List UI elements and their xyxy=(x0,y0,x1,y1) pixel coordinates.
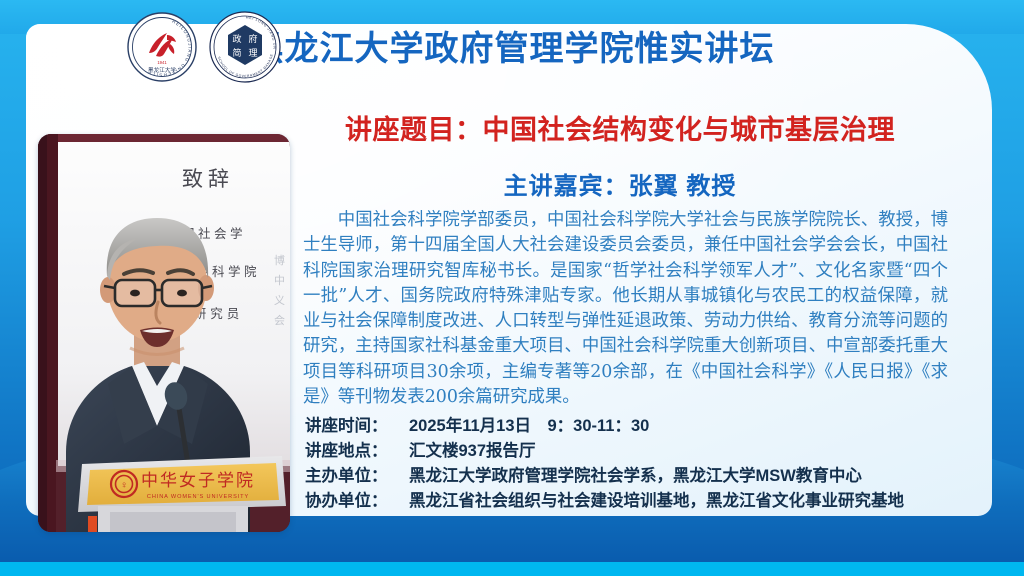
svg-text:简: 简 xyxy=(232,47,241,58)
svg-text:中华女子学院: 中华女子学院 xyxy=(141,471,255,491)
info-value: 汇文楼937报告厅 xyxy=(409,439,945,464)
page-title: 黑龙江大学政府管理学院惟实讲坛 xyxy=(250,21,775,70)
svg-text:府: 府 xyxy=(248,33,257,44)
heilongjiang-university-seal-icon: HEILONGJIANG UNIVERSITY 1941 黑龙江大学 xyxy=(126,11,198,83)
logo-group: HEILONGJIANG UNIVERSITY 1941 黑龙江大学 HEI L… xyxy=(126,10,282,84)
speaker-photo-image: 致辞 中国社会学 中国社会科学院 张翼研究员 博 中 义 会 xyxy=(38,134,290,532)
svg-text:理: 理 xyxy=(248,48,257,58)
speaker-photo: 致辞 中国社会学 中国社会科学院 张翼研究员 博 中 义 会 xyxy=(38,134,290,532)
info-label: 讲座时间： xyxy=(305,414,409,439)
info-value: 2025年11月13日 9：30-11：30 xyxy=(409,414,945,439)
event-info-block: 讲座时间： 2025年11月13日 9：30-11：30 讲座地点： 汇文楼93… xyxy=(305,414,945,514)
lecture-poster: HEILONGJIANG UNIVERSITY 1941 黑龙江大学 HEI L… xyxy=(0,0,1024,576)
svg-text:黑龙江大学: 黑龙江大学 xyxy=(148,66,176,74)
svg-text:政: 政 xyxy=(232,33,241,44)
info-value: 黑龙江省社会组织与社会建设培训基地，黑龙江省文化事业研究基地 xyxy=(409,489,945,514)
poster-header: HEILONGJIANG UNIVERSITY 1941 黑龙江大学 HEI L… xyxy=(0,6,1024,84)
svg-text:致辞: 致辞 xyxy=(182,167,234,191)
info-label: 协办单位： xyxy=(305,489,409,514)
svg-text:CHINA WOMEN'S UNIVERSITY: CHINA WOMEN'S UNIVERSITY xyxy=(147,494,249,500)
speaker-bio: 中国社会科学院学部委员，中国社会科学院大学社会与民族学院院长、教授，博士生导师，… xyxy=(303,208,948,410)
background-bottom-strip xyxy=(0,562,1024,576)
info-row-organizer: 主办单位： 黑龙江大学政府管理学院社会学系，黑龙江大学MSW教育中心 xyxy=(305,464,945,489)
speaker-line: 主讲嘉宾：张翼 教授 xyxy=(290,166,950,201)
lecture-title: 讲座题目：中国社会结构变化与城市基层治理 xyxy=(290,108,950,147)
svg-text:博: 博 xyxy=(274,254,285,267)
svg-text:♀: ♀ xyxy=(120,480,128,491)
svg-text:义: 义 xyxy=(274,294,285,307)
info-row-co-organizer: 协办单位： 黑龙江省社会组织与社会建设培训基地，黑龙江省文化事业研究基地 xyxy=(305,489,945,514)
svg-text:1941: 1941 xyxy=(157,60,167,65)
school-of-government-management-emblem-icon: HEI LONG JIANG UNIVERSITY SCHOOL OF GOVE… xyxy=(208,10,282,84)
info-row-time: 讲座时间： 2025年11月13日 9：30-11：30 xyxy=(305,414,945,439)
info-label: 讲座地点： xyxy=(305,439,409,464)
info-label: 主办单位： xyxy=(305,464,409,489)
info-row-location: 讲座地点： 汇文楼937报告厅 xyxy=(305,439,945,464)
info-value: 黑龙江大学政府管理学院社会学系，黑龙江大学MSW教育中心 xyxy=(409,464,945,489)
svg-text:中: 中 xyxy=(274,274,285,287)
svg-text:会: 会 xyxy=(274,314,285,327)
